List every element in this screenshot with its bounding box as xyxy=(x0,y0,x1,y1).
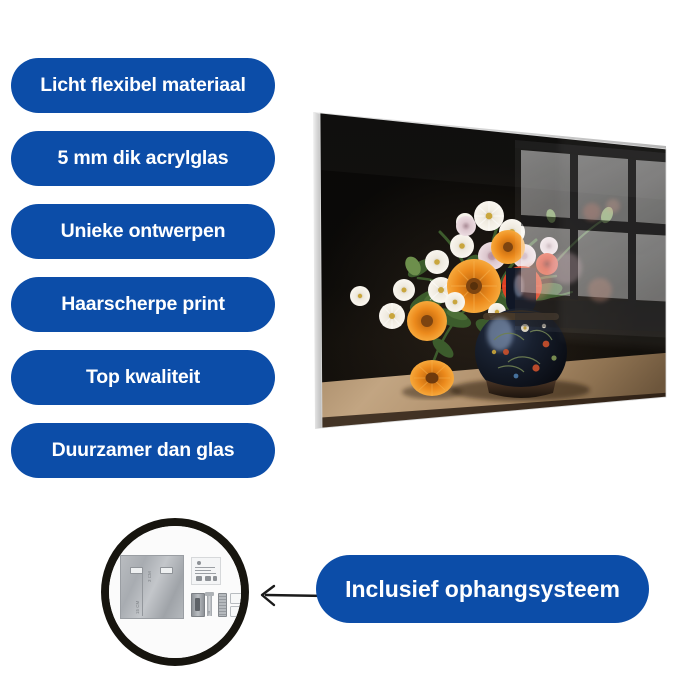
feature-pill-label: Unieke ontwerpen xyxy=(61,222,226,242)
feature-pill-duurzamer-dan-glas[interactable]: Duurzamer dan glas xyxy=(11,423,275,478)
instruction-figure xyxy=(213,576,217,581)
window-reflection-overlay xyxy=(515,130,676,350)
artwork-orange-flowers xyxy=(407,230,525,396)
instruction-figure xyxy=(196,576,202,581)
callout-pill-inclusief-ophangsysteem[interactable]: Inclusief ophangsysteem xyxy=(316,555,649,623)
feature-pill-label: Top kwaliteit xyxy=(86,368,200,388)
mounting-plate-slot-right xyxy=(160,567,173,574)
mounting-plate-icon: 3 CM 15 CM xyxy=(120,555,184,619)
feature-pill-top-kwaliteit[interactable]: Top kwaliteit xyxy=(11,350,275,405)
dowel-icon xyxy=(218,593,227,617)
artwork-white-daisies xyxy=(350,201,525,333)
mounting-plate-mark-bottom: 15 CM xyxy=(135,601,140,614)
screw-icon xyxy=(207,592,212,616)
feature-pill-label: Haarscherpe print xyxy=(61,295,225,315)
artwork-table-lip xyxy=(314,392,676,434)
feature-pill-label: 5 mm dik acrylglas xyxy=(58,149,229,169)
feature-pill-licht-flexibel-materiaal[interactable]: Licht flexibel materiaal xyxy=(11,58,275,113)
panel-left-edge xyxy=(313,112,322,429)
artwork-table xyxy=(314,352,676,434)
clip-bottom-icon xyxy=(230,606,244,617)
feature-pill-5-mm-dik-acrylglas[interactable]: 5 mm dik acrylglas xyxy=(11,131,275,186)
mounting-plate-mark-top: 3 CM xyxy=(147,571,152,582)
feature-pill-list: Licht flexibel materiaal 5 mm dik acrylg… xyxy=(11,58,287,496)
panel-top-edge xyxy=(313,112,666,150)
artwork-vase xyxy=(475,268,567,398)
instruction-icon-dot xyxy=(197,561,201,565)
feature-pill-label: Duurzamer dan glas xyxy=(52,441,235,461)
mounting-plate-groove xyxy=(142,570,143,616)
instruction-line xyxy=(195,567,215,568)
feature-pill-haarscherpe-print[interactable]: Haarscherpe print xyxy=(11,277,275,332)
instruction-card-icon xyxy=(191,557,221,585)
artwork-bouquet xyxy=(350,201,615,396)
clip-top-icon xyxy=(230,593,244,604)
reflection-ghost-flowers xyxy=(516,199,620,302)
instruction-figure xyxy=(205,576,211,581)
artwork-pink-blooms xyxy=(456,216,558,270)
feature-pill-unieke-ontwerpen[interactable]: Unieke ontwerpen xyxy=(11,204,275,259)
hanging-system-circle-inset: 3 CM 15 CM xyxy=(101,518,249,666)
mounting-plate-slot-left xyxy=(130,567,143,574)
artwork-red-flowers xyxy=(502,253,558,306)
feature-pill-label: Licht flexibel materiaal xyxy=(40,76,245,96)
artwork-face xyxy=(310,105,676,435)
wall-plug-icon xyxy=(191,593,205,617)
instruction-line xyxy=(195,570,211,571)
callout-pill-label: Inclusief ophangsysteem xyxy=(345,578,620,601)
instruction-line xyxy=(195,573,216,574)
hanging-system-photo: 3 CM 15 CM xyxy=(108,523,249,666)
